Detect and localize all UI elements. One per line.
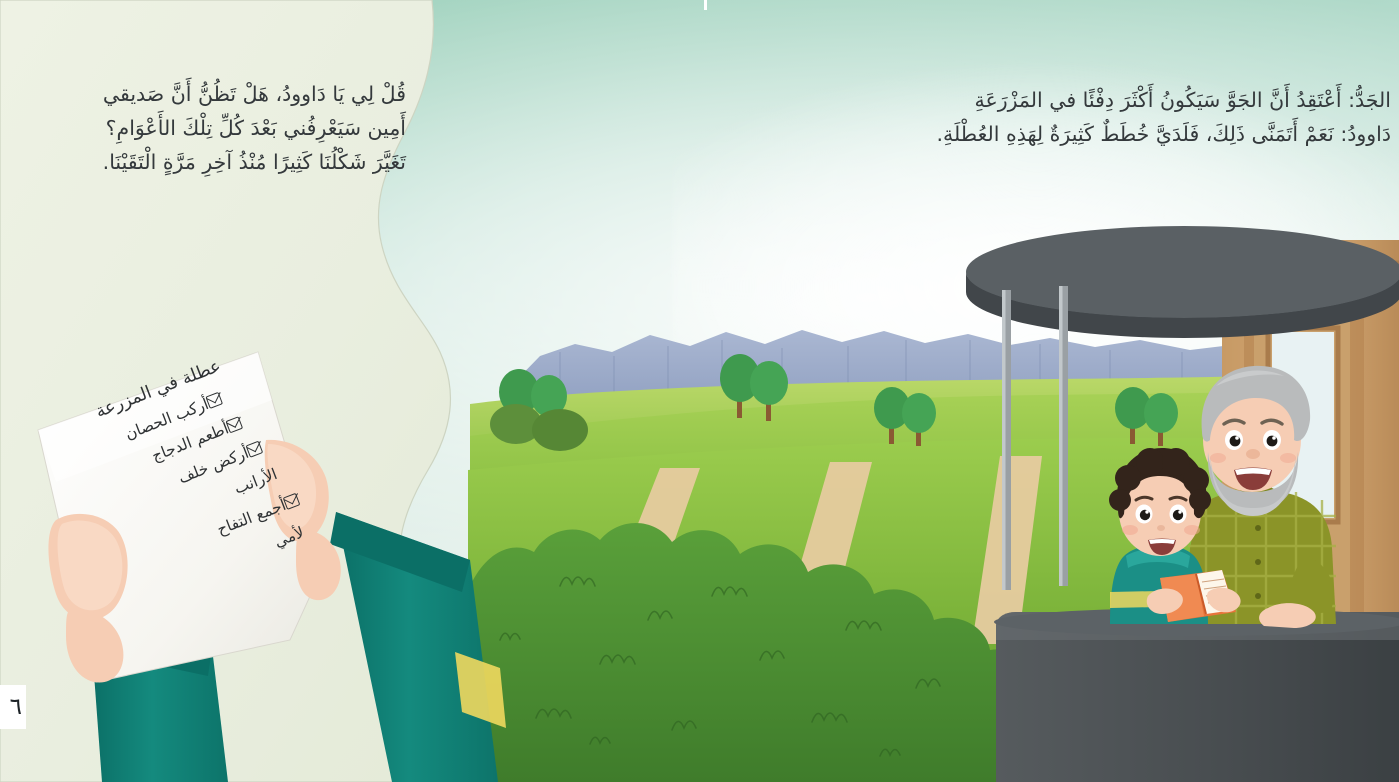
narration-right: الجَدُّ: أَعْتَقِدُ أَنَّ الجَوَّ سَيَكُ… (811, 84, 1391, 152)
narration-left-line-3: تَغَيَّرَ شَكْلُنَا كَثِيرًا مُنْذُ آخِر… (6, 146, 406, 179)
narration-left-line-2: أَمِين سَيَعْرِفُني بَعْدَ كُلِّ تِلْكَ … (6, 112, 406, 145)
checklist-item-3: الأرانب (105, 465, 279, 546)
checkbox-icon (246, 441, 264, 458)
checklist-overlay: عطلة في المزرعة أركب الحصان أطعم الدجاج … (18, 352, 348, 682)
page-number-badge: ٦ (0, 685, 26, 729)
narration-right-line-2: دَاوودُ: نَعَمْ أَتَمَنَّى ذَلِكَ، فَلَد… (811, 118, 1391, 151)
storybook-page: قُلْ لِي يَا دَاوودُ، هَلْ تَظُنُّ أَنَّ… (0, 0, 1399, 782)
checkbox-icon (283, 493, 301, 510)
narration-right-line-1: الجَدُّ: أَعْتَقِدُ أَنَّ الجَوَّ سَيَكُ… (811, 84, 1391, 117)
narration-left: قُلْ لِي يَا دَاوودُ، هَلْ تَظُنُّ أَنَّ… (0, 78, 406, 181)
top-edge-mark (704, 0, 707, 10)
checklist-item-0: أركب الحصان (28, 387, 231, 479)
checklist-title: عطلة في المزرعة (2, 356, 224, 457)
page-number: ٦ (10, 696, 22, 719)
checklist-item-5: لأمي (160, 523, 306, 594)
checklist-item-2: أركض خلف (68, 436, 271, 528)
checkbox-icon (225, 416, 243, 433)
checklist-item-1: أطعم الدجاج (48, 412, 251, 504)
checkbox-icon (205, 392, 223, 409)
narration-left-line-1: قُلْ لِي يَا دَاوودُ، هَلْ تَظُنُّ أَنَّ… (6, 78, 406, 111)
checklist-text: عطلة في المزرعة أركب الحصان أطعم الدجاج … (0, 306, 399, 732)
checklist-item-4: أجمع التفاح (106, 488, 309, 580)
